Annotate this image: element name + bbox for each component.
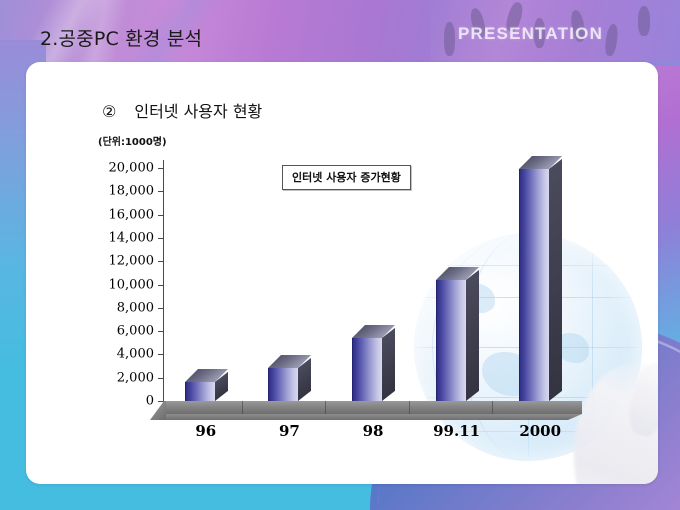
x-axis-tick <box>492 401 493 414</box>
x-axis-tick <box>325 401 326 414</box>
hero-word-presentation: PRESENTATION <box>458 24 603 44</box>
x-axis-tick-label: 98 <box>363 422 384 440</box>
y-axis-tick-label: 6,000 <box>117 325 154 338</box>
x-axis-tick <box>242 401 243 414</box>
y-axis-tick-label: 18,000 <box>109 185 155 198</box>
y-axis-tick-label: 8,000 <box>117 301 154 314</box>
y-axis-tick-label: 14,000 <box>109 231 155 244</box>
bar-96 <box>185 382 215 401</box>
x-axis-tick-label: 99.11 <box>433 422 480 440</box>
y-axis-tick-label: 4,000 <box>117 348 154 361</box>
section-marker: ② <box>102 102 116 121</box>
bar-front-face <box>436 280 467 401</box>
silhouette-figure <box>638 6 650 36</box>
section-heading-label: 인터넷 사용자 현황 <box>134 102 262 121</box>
bar-97 <box>268 368 298 401</box>
unit-note: (단위:1000명) <box>98 133 167 148</box>
bar-series <box>164 160 582 414</box>
page-title: 2.공중PC 환경 분석 <box>40 24 202 51</box>
x-axis-tick-label: 97 <box>279 422 300 440</box>
chart-floor-front <box>150 414 582 420</box>
bar-front-face <box>185 382 216 401</box>
bar-front-face <box>352 338 383 401</box>
y-axis-tick-label: 0 <box>146 395 154 408</box>
x-axis-tick <box>409 401 410 414</box>
bar-side-face <box>549 159 562 401</box>
x-axis-tick-label: 96 <box>195 422 216 440</box>
presentation-slide: PRESENTATION 2.공중PC 환경 분석 ②인터넷 사용자 현황 (단… <box>0 0 680 510</box>
bar-front-face <box>268 368 299 401</box>
y-axis-tick-label: 2,000 <box>117 371 154 384</box>
header-hero-image: PRESENTATION <box>430 0 680 62</box>
bar-98 <box>352 338 382 401</box>
x-axis-labels: 96979899.112000 <box>164 422 582 444</box>
bar-front-face <box>519 169 550 401</box>
y-axis-tick-label: 16,000 <box>109 208 155 221</box>
y-axis-labels: 20,00018,00016,00014,00012,00010,0008,00… <box>86 160 158 408</box>
section-heading: ②인터넷 사용자 현황 <box>102 98 262 122</box>
content-panel: ②인터넷 사용자 현황 (단위:1000명) 인터넷 사용자 증가현황 20,0… <box>26 62 658 484</box>
x-axis-tick-label: 2000 <box>519 422 561 440</box>
y-axis-tick-label: 10,000 <box>109 278 155 291</box>
bar-2000 <box>519 169 549 401</box>
y-axis-tick-label: 20,000 <box>109 162 155 175</box>
bar-99.11 <box>436 280 466 401</box>
silhouette-figure <box>444 22 455 56</box>
bar-side-face <box>466 270 479 401</box>
bar-chart: 인터넷 사용자 증가현황 20,00018,00016,00014,00012,… <box>86 160 606 450</box>
y-axis-tick-label: 12,000 <box>109 255 155 268</box>
bar-side-face <box>382 328 395 401</box>
